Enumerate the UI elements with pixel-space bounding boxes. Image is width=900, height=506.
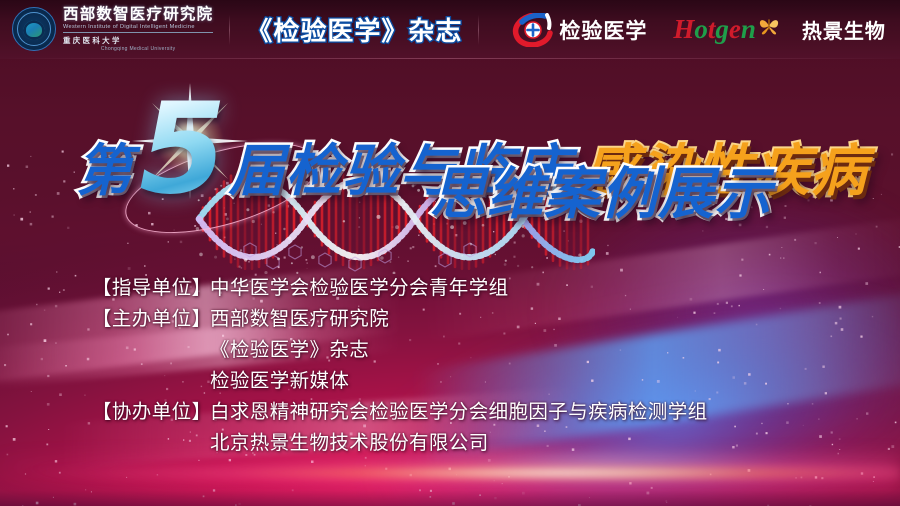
butterfly-icon bbox=[758, 16, 780, 36]
institute-logo-text: 西部数智医疗研究院 Western Institute of Digital I… bbox=[63, 7, 213, 52]
title-prefix: 第 bbox=[76, 144, 133, 200]
credit-value: 西部数智医疗研究院 bbox=[210, 303, 389, 334]
edition-numeral-wrap: 5 bbox=[133, 97, 229, 200]
logo-journal-lab-medicine: 《检验医学》杂志 bbox=[246, 11, 462, 48]
affiliation-name-cn: 重庆医科大学 bbox=[63, 32, 213, 46]
event-poster: 西部数智医疗研究院 Western Institute of Digital I… bbox=[0, 0, 900, 506]
credit-label-organizer: 【主办单位】 bbox=[92, 303, 210, 334]
credit-value: 北京热景生物技术股份有限公司 bbox=[210, 427, 708, 458]
credit-values-organizer: 西部数智医疗研究院 《检验医学》杂志 检验医学新媒体 bbox=[210, 303, 389, 396]
logo-hotgen: Hotgen 热景生物 bbox=[673, 15, 886, 44]
affiliation-name-en: Chongqing Medical University bbox=[63, 46, 213, 52]
edition-numeral: 5 bbox=[139, 75, 227, 222]
hotgen-name-cn: 热景生物 bbox=[802, 15, 886, 44]
header-divider-line bbox=[0, 58, 900, 59]
credit-label-coorganizer: 【协办单位】 bbox=[92, 396, 210, 427]
hotgen-wordmark: Hotgen bbox=[673, 16, 756, 43]
credit-value: 白求恩精神研究会检验医学分会细胞因子与疾病检测学组 bbox=[210, 396, 708, 427]
credit-row-guidance: 【指导单位】 中华医学会检验医学分会青年学组 bbox=[92, 272, 708, 303]
credit-value: 中华医学会检验医学分会青年学组 bbox=[210, 272, 509, 303]
sponsor-header-bar: 西部数智医疗研究院 Western Institute of Digital I… bbox=[0, 0, 900, 59]
institute-name-cn: 西部数智医疗研究院 bbox=[63, 7, 213, 23]
institute-seal-icon bbox=[12, 7, 56, 51]
credit-label-guidance: 【指导单位】 bbox=[92, 272, 210, 303]
credit-values-guidance: 中华医学会检验医学分会青年学组 bbox=[210, 272, 509, 303]
institute-name-en: Western Institute of Digital Intelligent… bbox=[63, 24, 213, 30]
header-separator-2 bbox=[478, 15, 479, 45]
logo-laboratory-medicine: 检验医学 bbox=[511, 13, 647, 47]
header-separator-1 bbox=[229, 15, 230, 45]
horizon-glow-core bbox=[0, 466, 900, 480]
bottom-vignette bbox=[0, 480, 900, 506]
credits-block: 【指导单位】 中华医学会检验医学分会青年学组 【主办单位】 西部数智医疗研究院 … bbox=[92, 272, 708, 458]
credit-row-organizer: 【主办单位】 西部数智医疗研究院 《检验医学》杂志 检验医学新媒体 bbox=[92, 303, 708, 396]
title-line-2: 思维案例展示 bbox=[430, 167, 772, 223]
credit-value: 《检验医学》杂志 bbox=[210, 334, 389, 365]
lab-medicine-mark-icon bbox=[511, 13, 553, 47]
credit-row-coorganizer: 【协办单位】 白求恩精神研究会检验医学分会细胞因子与疾病检测学组 北京热景生物技… bbox=[92, 396, 708, 458]
title-subline: 思维案例展示 bbox=[430, 167, 772, 223]
title-block: 第 5 届检验与临床 感染性疾病 思维案例展示 bbox=[0, 59, 900, 259]
credit-values-coorganizer: 白求恩精神研究会检验医学分会细胞因子与疾病检测学组 北京热景生物技术股份有限公司 bbox=[210, 396, 708, 458]
logo-western-institute: 西部数智医疗研究院 Western Institute of Digital I… bbox=[12, 7, 213, 52]
credit-value: 检验医学新媒体 bbox=[210, 365, 389, 396]
lab-medicine-label: 检验医学 bbox=[559, 15, 647, 45]
